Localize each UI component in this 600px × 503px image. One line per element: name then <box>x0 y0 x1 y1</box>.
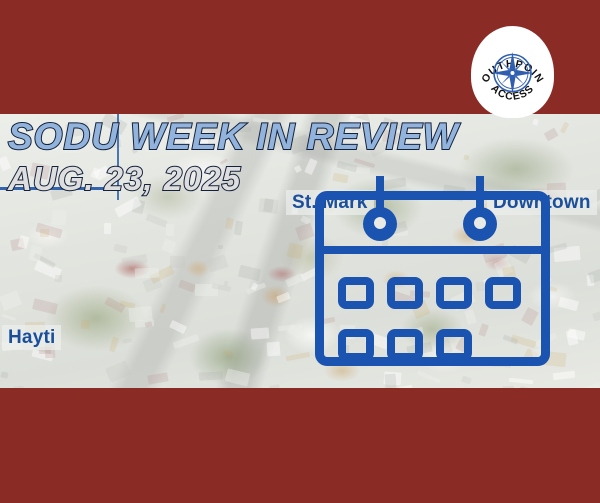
calendar-header-divider <box>315 246 550 254</box>
calendar-ring-right <box>463 207 497 241</box>
map-texture-speck <box>122 338 131 344</box>
brick <box>0 430 35 480</box>
map-texture-speck <box>165 224 173 237</box>
brick <box>429 430 555 480</box>
map-texture-speck <box>169 320 187 334</box>
calendar-cell <box>338 329 374 361</box>
map-texture-speck <box>0 290 22 311</box>
map-texture-speck <box>234 220 243 235</box>
brick <box>480 486 600 503</box>
map-texture-speck <box>417 371 440 384</box>
map-texture-speck <box>223 349 233 357</box>
map-texture-speck <box>532 118 538 125</box>
brick-row <box>0 388 600 430</box>
calendar-icon <box>315 178 550 366</box>
brick <box>480 388 592 424</box>
map-texture-speck <box>238 265 262 282</box>
brick <box>334 0 474 42</box>
headline-block: SODU WEEK IN REVIEW AUG. 23, 2025 <box>8 118 468 196</box>
brick-row <box>0 486 600 503</box>
map-texture-speck <box>461 375 472 384</box>
map-texture-speck <box>224 369 250 387</box>
brick <box>0 48 35 98</box>
map-texture-speck <box>113 244 127 254</box>
calendar-cell <box>436 329 472 361</box>
page-title: SODU WEEK IN REVIEW <box>8 118 468 157</box>
map-texture-speck <box>199 371 223 380</box>
map-texture-speck <box>17 235 29 249</box>
brick <box>210 0 328 42</box>
brick <box>311 48 423 98</box>
map-texture-speck <box>218 245 223 249</box>
poster-graphic: St. Mark Downtown Hayti SODU WEEK IN REV… <box>0 0 600 503</box>
map-texture-speck <box>160 304 167 313</box>
calendar-cell <box>387 277 423 309</box>
brick <box>165 48 305 98</box>
brick <box>561 430 600 480</box>
map-texture-speck <box>592 309 600 322</box>
calendar-cell <box>338 277 374 309</box>
map-texture-speck <box>509 378 533 385</box>
calendar-ring-left <box>363 207 397 241</box>
map-texture-speck <box>162 239 177 254</box>
map-texture-speck <box>560 122 569 134</box>
map-label-hayti: Hayti <box>2 325 61 350</box>
calendar-cell <box>485 277 521 309</box>
brick <box>41 430 159 480</box>
brick <box>0 0 68 42</box>
brick <box>230 486 342 503</box>
brick <box>0 388 68 424</box>
map-texture-speck <box>266 341 280 356</box>
page-subtitle-date: AUG. 23, 2025 <box>8 162 468 197</box>
map-texture-speck <box>135 268 160 279</box>
brick-row <box>0 430 600 486</box>
brick-wall-bottom <box>0 388 600 503</box>
map-texture-speck <box>1 314 16 321</box>
brick <box>0 486 78 503</box>
map-texture-speck <box>0 371 9 379</box>
map-texture-speck <box>285 272 305 287</box>
map-texture-speck <box>206 254 228 272</box>
map-texture-speck <box>178 280 196 293</box>
logo-artwork: SOUTHPOINT ACCESS <box>471 26 554 118</box>
map-texture-speck <box>384 374 396 388</box>
map-texture-speck <box>51 210 66 226</box>
map-texture-speck <box>147 372 168 385</box>
brick <box>41 48 159 98</box>
calendar-cell <box>387 329 423 361</box>
brick <box>74 388 204 424</box>
map-texture-speck <box>287 325 306 341</box>
brick <box>348 486 474 503</box>
map-texture-speck <box>251 328 270 340</box>
map-texture-speck <box>105 360 131 382</box>
map-texture-speck <box>225 217 235 230</box>
map-texture-speck <box>81 320 90 330</box>
brick <box>74 0 204 42</box>
calendar-cell <box>436 277 472 309</box>
map-texture-speck <box>109 336 119 352</box>
map-texture-speck <box>173 334 199 349</box>
brick <box>311 430 423 480</box>
brick <box>84 486 224 503</box>
map-texture-speck <box>588 267 600 283</box>
map-texture-speck <box>128 306 152 322</box>
map-texture-speck <box>40 229 49 238</box>
map-texture-speck <box>223 280 228 285</box>
map-texture-speck <box>104 223 111 234</box>
southpoint-access-logo: SOUTHPOINT ACCESS <box>471 26 554 118</box>
map-texture-speck <box>286 352 311 362</box>
map-texture-speck <box>295 223 315 242</box>
map-texture-speck <box>543 127 558 141</box>
map-texture-speck <box>122 254 148 267</box>
map-texture-speck <box>558 296 579 310</box>
map-texture-speck <box>55 275 63 282</box>
brick <box>561 48 600 98</box>
map-texture-speck <box>32 299 58 316</box>
brick <box>334 388 474 424</box>
map-texture-speck <box>145 214 167 228</box>
brick <box>165 430 305 480</box>
brick <box>210 388 328 424</box>
map-texture-speck <box>553 371 575 381</box>
map-texture-speck <box>286 243 302 260</box>
